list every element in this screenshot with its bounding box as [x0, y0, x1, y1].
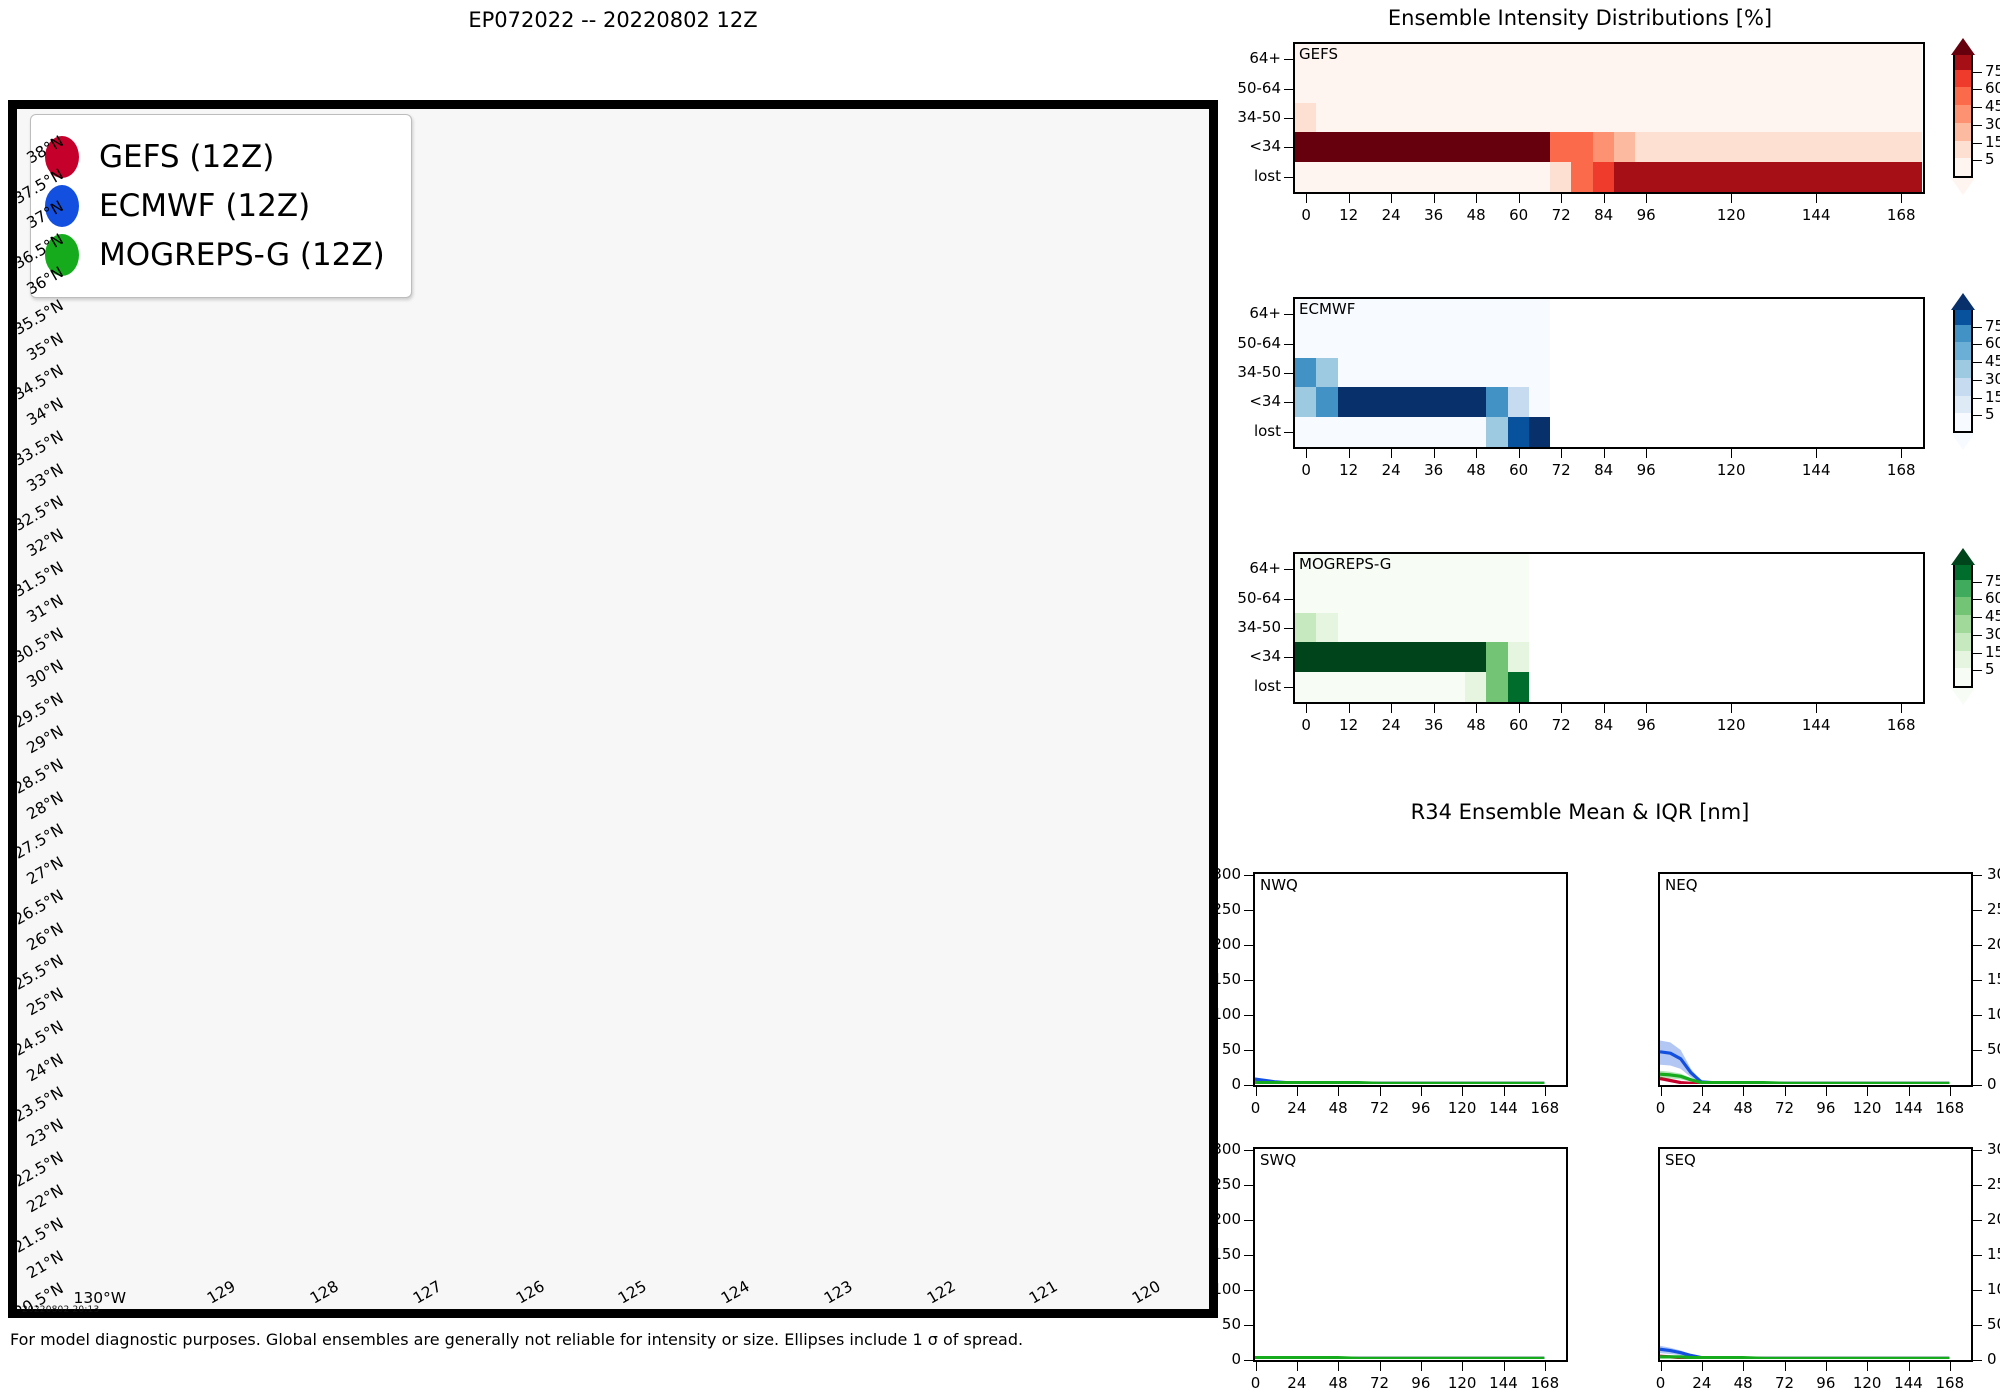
r34-y-tick	[1973, 1050, 1982, 1051]
r34-y-label: 150	[1191, 1245, 1241, 1263]
r34-y-tick	[1244, 1050, 1253, 1051]
r34-y-tick	[1973, 875, 1982, 876]
r34-y-tick	[1973, 1220, 1982, 1221]
r34-y-label: 0	[1191, 1350, 1241, 1368]
r34-y-tick	[1973, 1255, 1982, 1256]
r34-y-tick	[1244, 1185, 1253, 1186]
r34-x-tick	[1826, 1087, 1827, 1096]
r34-x-tick	[1743, 1362, 1744, 1371]
r34-y-tick	[1244, 910, 1253, 911]
r34-y-label: 200	[1191, 1210, 1241, 1228]
r34-panel-label: NWQ	[1260, 876, 1298, 894]
heatmap-model-label: GEFS	[1299, 45, 1338, 63]
r34-x-tick	[1545, 1362, 1546, 1371]
r34-x-tick	[1867, 1087, 1868, 1096]
r34-y-tick	[1973, 1085, 1982, 1086]
r34-panel-label: SEQ	[1665, 1151, 1696, 1169]
r34-y-label: 0	[1987, 1350, 1997, 1368]
r34-y-label: 150	[1987, 1245, 2000, 1263]
r34-x-tick	[1661, 1087, 1662, 1096]
r34-y-tick	[1244, 1015, 1253, 1016]
r34-x-tick	[1380, 1087, 1381, 1096]
r34-y-label: 250	[1191, 900, 1241, 918]
r34-x-tick	[1338, 1362, 1339, 1371]
r34-y-tick	[1973, 1150, 1982, 1151]
r34-y-label: 300	[1191, 865, 1241, 883]
r34-series-canvas	[1660, 874, 1970, 1084]
r34-y-label: 50	[1191, 1040, 1241, 1058]
r34-panel-label: NEQ	[1665, 876, 1698, 894]
r34-y-tick	[1973, 1185, 1982, 1186]
r34-x-label: 168	[1520, 1099, 1570, 1117]
r34-x-tick	[1256, 1087, 1257, 1096]
r34-y-tick	[1973, 1290, 1982, 1291]
r34-y-tick	[1973, 1360, 1982, 1361]
r34-y-tick	[1973, 910, 1982, 911]
r34-x-tick	[1702, 1362, 1703, 1371]
r34-panel-neq[interactable]: NEQ	[1658, 872, 1973, 1087]
r34-x-tick	[1785, 1087, 1786, 1096]
r34-y-label: 100	[1191, 1005, 1241, 1023]
r34-y-label: 300	[1191, 1140, 1241, 1158]
r34-y-label: 250	[1987, 900, 2000, 918]
r34-y-tick	[1244, 1085, 1253, 1086]
r34-x-label: 168	[1520, 1374, 1570, 1392]
heatmap-model-label: MOGREPS-G	[1299, 555, 1391, 573]
r34-x-tick	[1462, 1087, 1463, 1096]
r34-y-label: 250	[1191, 1175, 1241, 1193]
r34-y-tick	[1244, 1290, 1253, 1291]
r34-y-tick	[1973, 945, 1982, 946]
r34-y-tick	[1973, 1325, 1982, 1326]
r34-x-tick	[1462, 1362, 1463, 1371]
r34-y-label: 150	[1987, 970, 2000, 988]
r34-y-tick	[1973, 1015, 1982, 1016]
r34-y-label: 100	[1191, 1280, 1241, 1298]
r34-y-tick	[1244, 945, 1253, 946]
r34-y-tick	[1244, 980, 1253, 981]
r34-y-tick	[1244, 1255, 1253, 1256]
r34-x-label: 168	[1925, 1374, 1975, 1392]
r34-x-tick	[1950, 1087, 1951, 1096]
r34-series-canvas	[1255, 874, 1565, 1084]
r34-x-tick	[1380, 1362, 1381, 1371]
r34-x-tick	[1909, 1087, 1910, 1096]
r34-x-tick	[1867, 1362, 1868, 1371]
r34-x-tick	[1909, 1362, 1910, 1371]
r34-panel-label: SWQ	[1260, 1151, 1296, 1169]
r34-x-tick	[1297, 1362, 1298, 1371]
r34-panel-swq[interactable]: SWQ	[1253, 1147, 1568, 1362]
r34-y-tick	[1244, 1325, 1253, 1326]
r34-x-tick	[1785, 1362, 1786, 1371]
r34-y-tick	[1973, 980, 1982, 981]
r34-y-label: 50	[1191, 1315, 1241, 1333]
r34-x-tick	[1702, 1087, 1703, 1096]
r34-x-tick	[1661, 1362, 1662, 1371]
r34-x-tick	[1338, 1087, 1339, 1096]
r34-x-tick	[1950, 1362, 1951, 1371]
r34-x-tick	[1545, 1087, 1546, 1096]
r34-quadrant-panels[interactable]: NWQ050100150200250300024487296120144168N…	[0, 0, 2000, 1400]
r34-y-label: 0	[1191, 1075, 1241, 1093]
r34-x-tick	[1421, 1087, 1422, 1096]
r34-y-label: 250	[1987, 1175, 2000, 1193]
r34-x-tick	[1826, 1362, 1827, 1371]
r34-y-tick	[1244, 1150, 1253, 1151]
r34-series-canvas	[1255, 1149, 1565, 1359]
r34-y-label: 100	[1987, 1280, 2000, 1298]
r34-y-label: 100	[1987, 1005, 2000, 1023]
r34-y-label: 200	[1191, 935, 1241, 953]
r34-panel-nwq[interactable]: NWQ	[1253, 872, 1568, 1087]
r34-y-label: 300	[1987, 1140, 2000, 1158]
r34-y-label: 0	[1987, 1075, 1997, 1093]
r34-y-tick	[1244, 875, 1253, 876]
r34-y-label: 50	[1987, 1040, 2000, 1058]
r34-x-tick	[1421, 1362, 1422, 1371]
r34-x-tick	[1504, 1087, 1505, 1096]
r34-y-tick	[1244, 1220, 1253, 1221]
r34-x-tick	[1504, 1362, 1505, 1371]
r34-panel-seq[interactable]: SEQ	[1658, 1147, 1973, 1362]
heatmap-model-label: ECMWF	[1299, 300, 1355, 318]
r34-series-canvas	[1660, 1149, 1970, 1359]
r34-y-label: 300	[1987, 865, 2000, 883]
r34-y-label: 200	[1987, 1210, 2000, 1228]
r34-y-label: 200	[1987, 935, 2000, 953]
r34-x-tick	[1297, 1087, 1298, 1096]
r34-y-label: 150	[1191, 970, 1241, 988]
r34-x-label: 168	[1925, 1099, 1975, 1117]
r34-y-label: 50	[1987, 1315, 2000, 1333]
r34-x-tick	[1743, 1087, 1744, 1096]
r34-y-tick	[1244, 1360, 1253, 1361]
r34-x-tick	[1256, 1362, 1257, 1371]
